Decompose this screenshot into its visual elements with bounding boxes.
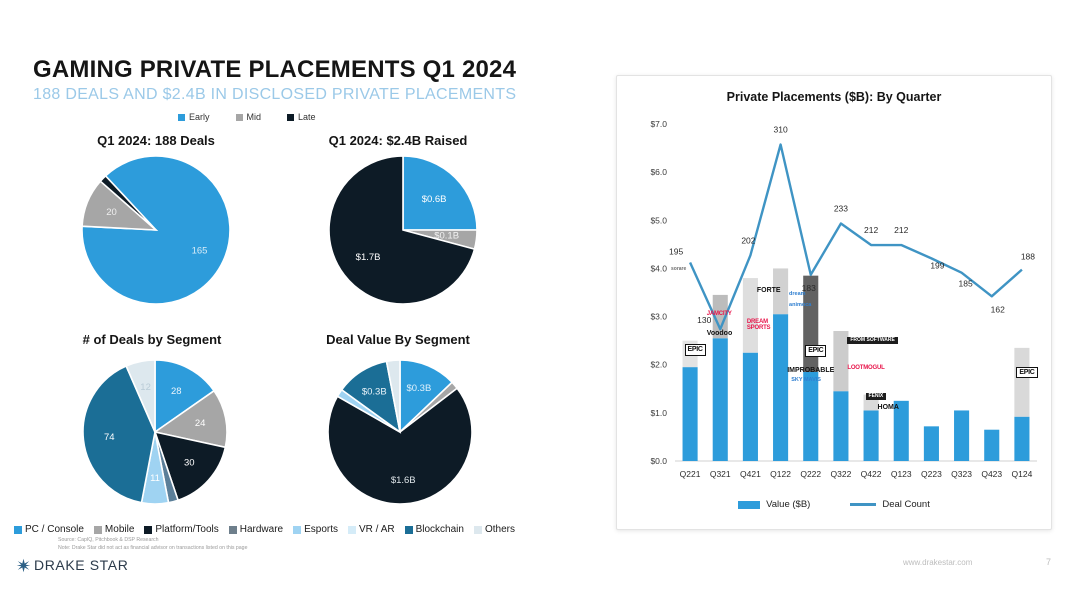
bar bbox=[954, 410, 969, 461]
segment-legend-item: Esports bbox=[293, 524, 338, 535]
logo-text: DRAKE STAR bbox=[34, 557, 128, 573]
deal-count-data-label: 233 bbox=[834, 203, 848, 213]
bar bbox=[833, 391, 848, 461]
bar bbox=[1014, 417, 1029, 461]
legend-bar-swatch-icon bbox=[738, 501, 760, 509]
pie-title-value-by-segment: Deal Value By Segment bbox=[288, 332, 508, 347]
chart-legend-item-value: Value ($B) bbox=[738, 499, 810, 510]
y-axis-tick-label: $4.0 bbox=[650, 263, 667, 273]
segment-legend-item: Hardware bbox=[229, 524, 283, 535]
x-axis-tick-label: Q124 bbox=[1012, 469, 1033, 479]
private-placements-chart-card: Private Placements ($B): By Quarter $0.0… bbox=[616, 75, 1052, 530]
pie-slice-label: $0.3B bbox=[362, 386, 387, 397]
y-axis-tick-label: $1.0 bbox=[650, 408, 667, 418]
segment-legend-label: Platform/Tools bbox=[155, 524, 218, 535]
bar-logo-extension bbox=[743, 278, 758, 353]
pie-chart-q1-raised: $0.6B$0.1B$1.7B bbox=[303, 152, 503, 312]
segment-legend-label: Others bbox=[485, 524, 515, 535]
y-axis-tick-label: $3.0 bbox=[650, 312, 667, 322]
pie-slice-label: 24 bbox=[195, 418, 206, 429]
y-axis-tick-label: $2.0 bbox=[650, 360, 667, 370]
pie-slice-label: $0.6B bbox=[422, 194, 447, 205]
x-axis-tick-label: Q421 bbox=[740, 469, 761, 479]
legend-swatch-icon bbox=[405, 526, 413, 534]
legend-swatch-icon bbox=[144, 526, 152, 534]
pie-slice-label: $0.3B bbox=[406, 383, 431, 394]
pie-slice-label: 74 bbox=[104, 432, 115, 443]
deal-count-data-label: 188 bbox=[1021, 252, 1035, 262]
x-axis-tick-label: Q323 bbox=[951, 469, 972, 479]
star-icon bbox=[16, 558, 31, 573]
deal-count-data-label: 212 bbox=[864, 225, 878, 235]
deal-count-data-label: 212 bbox=[894, 225, 908, 235]
pie-slice-label: 28 bbox=[171, 386, 182, 397]
source-line: Source: CapIQ, Pitchbook & DSP Research bbox=[58, 536, 247, 544]
legend-swatch-icon bbox=[14, 526, 22, 534]
legend-swatch-icon bbox=[293, 526, 301, 534]
deal-count-data-label: 199 bbox=[930, 260, 944, 270]
bar bbox=[683, 367, 698, 461]
disclaimer-line: Note: Drake Star did not act as financia… bbox=[58, 544, 247, 552]
bar bbox=[894, 401, 909, 461]
pie-slice-label: $1.6B bbox=[391, 475, 416, 486]
bar-logo-extension bbox=[864, 395, 879, 411]
drake-star-logo: DRAKE STAR bbox=[16, 557, 128, 573]
bar-logo-extension bbox=[773, 268, 788, 314]
deal-count-data-label: 130 bbox=[697, 315, 711, 325]
pie-slice-label: 30 bbox=[184, 458, 195, 469]
stage-legend-label: Early bbox=[189, 112, 210, 122]
deal-count-data-label: 310 bbox=[773, 125, 787, 135]
pie-slice-label: $1.7B bbox=[356, 252, 381, 263]
x-axis-tick-label: Q422 bbox=[861, 469, 882, 479]
stage-legend-item-late: Late bbox=[287, 112, 316, 122]
segment-legend: PC / ConsoleMobilePlatform/ToolsHardware… bbox=[14, 524, 559, 535]
stage-legend-item-mid: Mid bbox=[236, 112, 262, 122]
chart-plot-area: $0.0$1.0$2.0$3.0$4.0$5.0$6.0$7.0Q221Q321… bbox=[617, 76, 1051, 529]
bar bbox=[924, 426, 939, 461]
x-axis-tick-label: Q122 bbox=[770, 469, 791, 479]
y-axis-tick-label: $6.0 bbox=[650, 167, 667, 177]
y-axis-tick-label: $5.0 bbox=[650, 215, 667, 225]
slide: GAMING PRIVATE PLACEMENTS Q1 2024 188 DE… bbox=[0, 0, 1080, 591]
deal-count-data-label: 185 bbox=[958, 279, 972, 289]
bar-logo-extension bbox=[683, 341, 698, 367]
pie-title-deals: Q1 2024: 188 Deals bbox=[46, 133, 266, 148]
segment-legend-item: Blockchain bbox=[405, 524, 464, 535]
segment-legend-item: Platform/Tools bbox=[144, 524, 218, 535]
pie-title-raised: Q1 2024: $2.4B Raised bbox=[288, 133, 508, 148]
stage-legend-item-early: Early bbox=[178, 112, 210, 122]
x-axis-tick-label: Q222 bbox=[800, 469, 821, 479]
legend-swatch-icon bbox=[94, 526, 102, 534]
legend-swatch-icon bbox=[178, 114, 185, 121]
x-axis-tick-label: Q221 bbox=[680, 469, 701, 479]
page-title: GAMING PRIVATE PLACEMENTS Q1 2024 bbox=[33, 56, 516, 84]
x-axis-tick-label: Q321 bbox=[710, 469, 731, 479]
stage-legend: Early Mid Late bbox=[178, 112, 316, 122]
footer-page-number: 7 bbox=[1046, 557, 1051, 567]
x-axis-tick-label: Q322 bbox=[831, 469, 852, 479]
x-axis-tick-label: Q223 bbox=[921, 469, 942, 479]
segment-legend-item: Others bbox=[474, 524, 515, 535]
bar bbox=[864, 410, 879, 461]
deal-count-line bbox=[690, 145, 1022, 330]
segment-legend-label: Blockchain bbox=[416, 524, 464, 535]
footer-url: www.drakestar.com bbox=[903, 558, 972, 567]
pie-chart-q1-deals: 16520 bbox=[56, 152, 256, 312]
chart-legend-item-deal-count: Deal Count bbox=[850, 499, 930, 510]
legend-swatch-icon bbox=[348, 526, 356, 534]
chart-legend-label: Value ($B) bbox=[766, 499, 810, 510]
segment-legend-item: Mobile bbox=[94, 524, 134, 535]
segment-legend-label: VR / AR bbox=[359, 524, 395, 535]
pie-slice-label: 11 bbox=[150, 473, 160, 484]
deal-count-data-label: 162 bbox=[991, 304, 1005, 314]
source-notes: Source: CapIQ, Pitchbook & DSP Research … bbox=[58, 536, 247, 552]
legend-swatch-icon bbox=[229, 526, 237, 534]
pie-slice-label: 165 bbox=[192, 245, 208, 256]
deal-count-data-label: 183 bbox=[802, 283, 816, 293]
bar bbox=[743, 353, 758, 461]
stage-legend-label: Mid bbox=[247, 112, 262, 122]
bar bbox=[773, 314, 788, 461]
legend-swatch-icon bbox=[236, 114, 243, 121]
segment-legend-label: Hardware bbox=[240, 524, 283, 535]
bar-logo-extension bbox=[833, 331, 848, 391]
legend-swatch-icon bbox=[287, 114, 294, 121]
chart-legend: Value ($B) Deal Count bbox=[617, 499, 1051, 510]
pie-title-deals-by-segment: # of Deals by Segment bbox=[42, 332, 262, 347]
chart-legend-label: Deal Count bbox=[882, 499, 930, 510]
segment-legend-label: Mobile bbox=[105, 524, 134, 535]
x-axis-tick-label: Q423 bbox=[981, 469, 1002, 479]
bar bbox=[984, 430, 999, 461]
bar-logo-extension bbox=[1014, 348, 1029, 417]
legend-line-swatch-icon bbox=[850, 503, 876, 506]
pie-slice-label: 20 bbox=[106, 207, 117, 218]
page-subtitle: 188 DEALS AND $2.4B IN DISCLOSED PRIVATE… bbox=[33, 86, 516, 104]
segment-legend-label: Esports bbox=[304, 524, 338, 535]
pie-slice-label: 12 bbox=[140, 382, 151, 393]
segment-legend-label: PC / Console bbox=[25, 524, 84, 535]
pie-chart-value-by-segment: $0.3B$1.6B$0.3B bbox=[300, 352, 500, 512]
bar bbox=[713, 338, 728, 461]
y-axis-tick-label: $0.0 bbox=[650, 456, 667, 466]
deal-count-data-label: 195 bbox=[669, 246, 683, 256]
segment-legend-item: VR / AR bbox=[348, 524, 395, 535]
stage-legend-label: Late bbox=[298, 112, 316, 122]
segment-legend-item: PC / Console bbox=[14, 524, 84, 535]
bar bbox=[803, 372, 818, 461]
y-axis-tick-label: $7.0 bbox=[650, 119, 667, 129]
pie-chart-deals-by-segment: 282430117412 bbox=[55, 352, 255, 512]
deal-count-data-label: 202 bbox=[741, 235, 755, 245]
legend-swatch-icon bbox=[474, 526, 482, 534]
x-axis-tick-label: Q123 bbox=[891, 469, 912, 479]
